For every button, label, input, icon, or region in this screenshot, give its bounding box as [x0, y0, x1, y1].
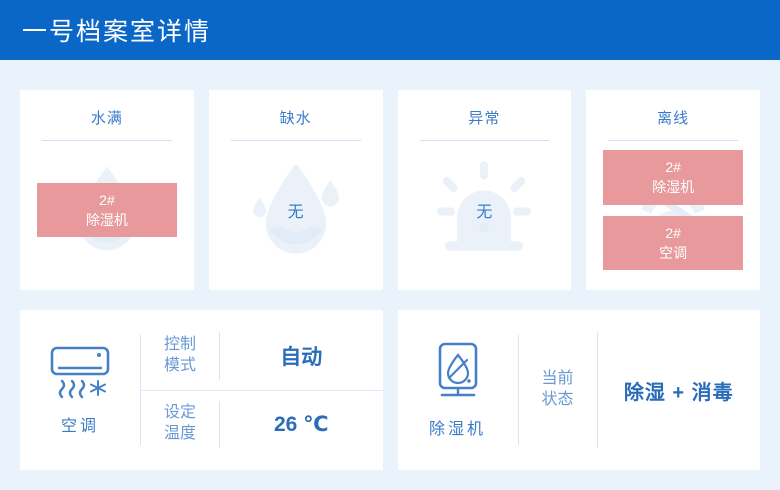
device-identity: 空调 [20, 345, 140, 436]
status-badge-line2: 空调 [603, 243, 743, 263]
status-card-water-full[interactable]: 水满 2# 除湿机 [20, 90, 194, 290]
device-panel-row: 空调 控制 模式 自动 设定 温度 26 ℃ [0, 290, 780, 470]
page-title: 一号档案室详情 [22, 12, 211, 48]
status-card-title: 水满 [20, 90, 194, 128]
device-attribute-row: 设定 温度 26 ℃ [141, 390, 383, 459]
app-header: 一号档案室详情 [0, 0, 780, 60]
title-divider [231, 140, 361, 141]
device-name: 除湿机 [429, 415, 486, 439]
attribute-label-line2: 温度 [141, 424, 219, 445]
air-conditioner-icon [49, 345, 111, 404]
status-empty-text: 无 [476, 198, 492, 222]
attribute-label: 设定 温度 [141, 403, 219, 445]
status-badge-line2: 除湿机 [37, 210, 177, 230]
status-empty-text: 无 [288, 198, 304, 222]
attribute-label-line1: 当前 [519, 369, 597, 390]
status-badge[interactable]: 2# 空调 [603, 216, 743, 271]
device-attribute-row: 当前 状态 除湿 + 消毒 [519, 322, 761, 458]
status-badge[interactable]: 2# 除湿机 [37, 183, 177, 238]
attribute-value: 除湿 + 消毒 [598, 376, 761, 405]
device-attribute-list: 当前 状态 除湿 + 消毒 [519, 310, 761, 470]
status-card-body: 无 [398, 141, 572, 279]
device-identity: 除湿机 [398, 342, 518, 439]
dehumidifier-icon [430, 342, 486, 407]
title-divider [608, 140, 738, 141]
attribute-label: 控制 模式 [141, 335, 219, 377]
device-attribute-row: 控制 模式 自动 [141, 322, 383, 390]
status-badge-line1: 2# [603, 157, 743, 177]
attribute-value: 26 ℃ [220, 412, 383, 437]
title-divider [420, 140, 550, 141]
status-card-title: 离线 [586, 90, 760, 128]
attribute-label-line1: 设定 [141, 403, 219, 424]
title-divider [42, 140, 172, 141]
attribute-label: 当前 状态 [519, 369, 597, 411]
device-name: 空调 [61, 412, 99, 436]
status-card-row: 水满 2# 除湿机 缺水 [0, 60, 780, 290]
status-badge-line1: 2# [37, 190, 177, 210]
status-card-offline[interactable]: 离线 2# 除湿机 2# 空调 [586, 90, 760, 290]
status-card-body: 无 [209, 141, 383, 279]
attribute-label-line2: 状态 [519, 390, 597, 411]
status-badge-line2: 除湿机 [603, 177, 743, 197]
status-card-abnormal[interactable]: 异常 无 [398, 90, 572, 290]
status-card-water-shortage[interactable]: 缺水 无 [209, 90, 383, 290]
device-attribute-list: 控制 模式 自动 设定 温度 26 ℃ [141, 310, 383, 470]
status-card-title: 缺水 [209, 90, 383, 128]
status-card-body: 2# 除湿机 2# 空调 [586, 141, 760, 279]
status-badge-line1: 2# [603, 223, 743, 243]
status-badge[interactable]: 2# 除湿机 [603, 150, 743, 205]
status-card-title: 异常 [398, 90, 572, 128]
device-panel-air-conditioner[interactable]: 空调 控制 模式 自动 设定 温度 26 ℃ [20, 310, 383, 470]
status-card-body: 2# 除湿机 [20, 141, 194, 279]
attribute-value: 自动 [220, 341, 383, 371]
device-panel-dehumidifier[interactable]: 除湿机 当前 状态 除湿 + 消毒 [398, 310, 761, 470]
attribute-label-line2: 模式 [141, 356, 219, 377]
attribute-label-line1: 控制 [141, 335, 219, 356]
